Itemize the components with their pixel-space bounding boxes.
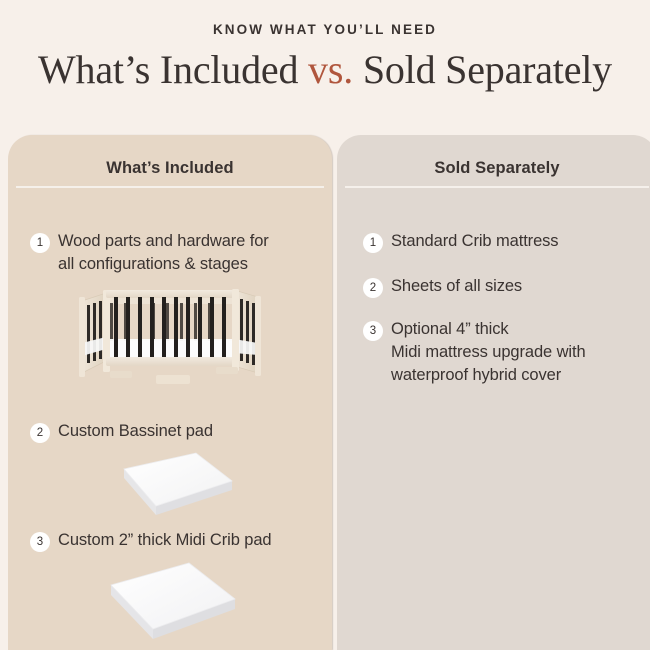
list-item-label: Optional 4” thick Midi mattress upgrade …	[391, 318, 586, 387]
list-item-label: Sheets of all sizes	[391, 275, 522, 298]
panel-left-divider	[16, 186, 324, 188]
item-number-badge: 3	[363, 321, 383, 341]
list-item: 3 Custom 2” thick Midi Crib pad	[8, 529, 368, 552]
panel-left-title: What’s Included	[8, 157, 332, 179]
item-number-badge: 2	[363, 278, 383, 298]
list-item-label: Standard Crib mattress	[391, 230, 558, 253]
bassinet-pad-illustration	[90, 447, 250, 527]
list-item: 2 Custom Bassinet pad	[8, 420, 368, 443]
list-item: 3 Optional 4” thick Midi mattress upgrad…	[337, 318, 650, 387]
crib-image	[8, 283, 332, 395]
comparison-infographic: KNOW WHAT YOU’LL NEED What’s Included vs…	[0, 0, 650, 650]
title-vs-accent: vs.	[308, 47, 353, 92]
title-part-one: What’s Included	[38, 47, 308, 92]
title-part-two: Sold Separately	[353, 47, 612, 92]
list-item-label: Custom 2” thick Midi Crib pad	[58, 529, 272, 552]
item-number-badge: 2	[30, 423, 50, 443]
list-item: 2 Sheets of all sizes	[337, 275, 650, 298]
panel-right-divider	[345, 186, 649, 188]
item-number-badge: 1	[363, 233, 383, 253]
page-title: What’s Included vs. Sold Separately	[0, 46, 650, 94]
midi-crib-pad-illustration	[85, 555, 255, 650]
eyebrow-text: KNOW WHAT YOU’LL NEED	[0, 22, 650, 38]
bassinet-pad-image	[8, 447, 332, 527]
item-number-badge: 1	[30, 233, 50, 253]
panel-whats-included: What’s Included 1 Wood parts and hardwar…	[8, 135, 332, 650]
midi-crib-pad-image	[8, 555, 332, 650]
crib-illustration	[70, 283, 270, 395]
list-item-label: Wood parts and hardware for all configur…	[58, 230, 269, 276]
header: KNOW WHAT YOU’LL NEED What’s Included vs…	[0, 0, 650, 126]
list-item: 1 Standard Crib mattress	[337, 230, 650, 253]
list-item: 1 Wood parts and hardware for all config…	[8, 230, 368, 276]
list-item-label: Custom Bassinet pad	[58, 420, 213, 443]
item-number-badge: 3	[30, 532, 50, 552]
panel-sold-separately: Sold Separately 1 Standard Crib mattress…	[337, 135, 650, 650]
panel-right-title: Sold Separately	[337, 157, 650, 179]
